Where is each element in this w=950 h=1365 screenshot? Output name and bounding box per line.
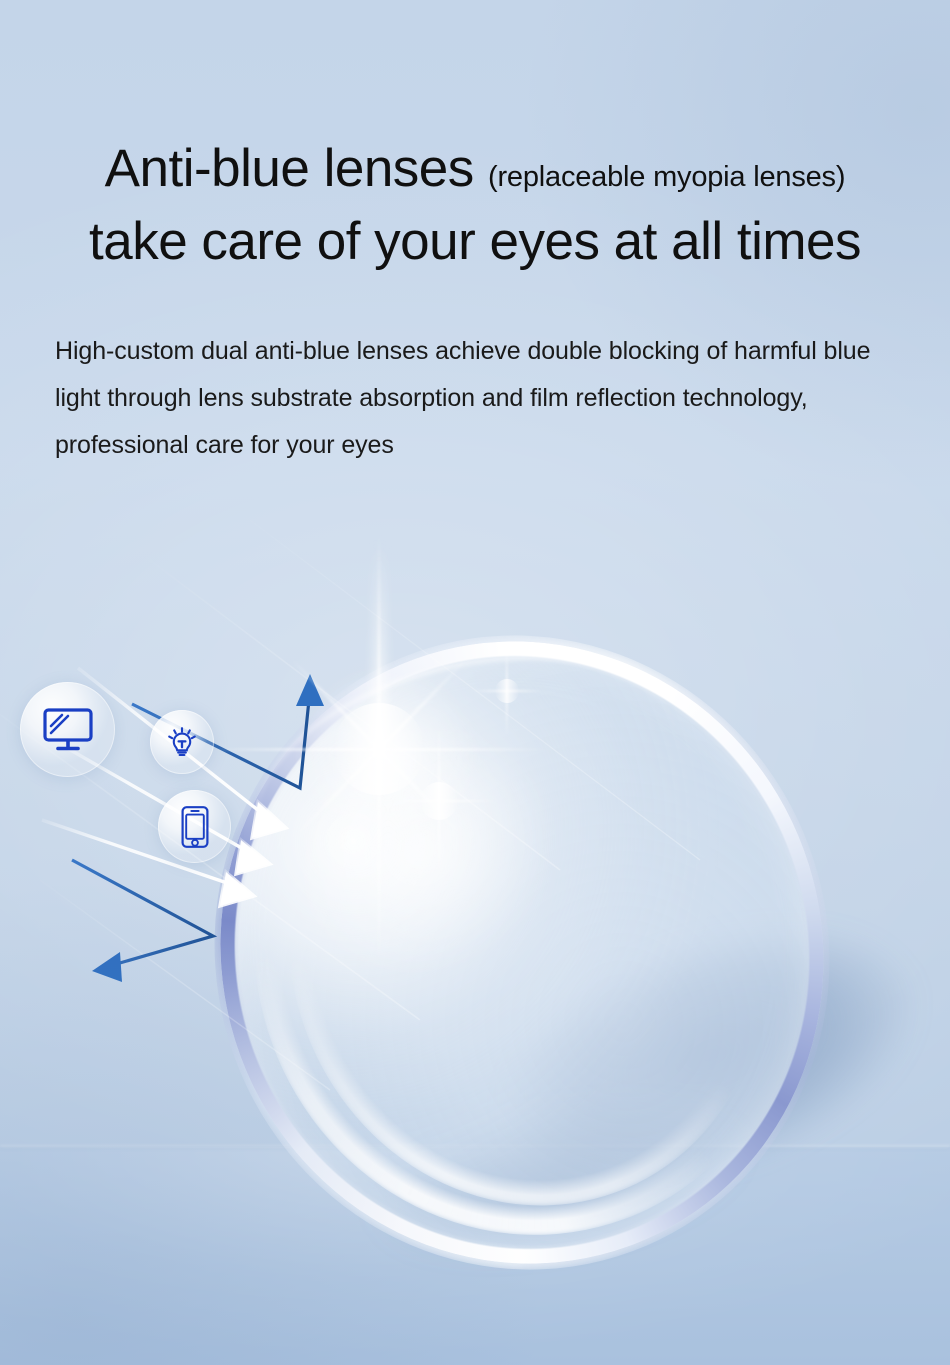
- background-light-streaks: [0, 520, 700, 1090]
- product-poster: Anti-blue lenses (replaceable myopia len…: [0, 0, 950, 1365]
- reflected-ray-lower: [72, 860, 213, 967]
- incoming-ray-3-arrowhead: [220, 872, 254, 906]
- reflected-ray-lower-arrowhead: [92, 952, 122, 982]
- subcopy-paragraph: High-custom dual anti-blue lenses achiev…: [55, 328, 900, 469]
- monitor-icon: [42, 707, 94, 753]
- badge-smartphone: [158, 790, 231, 863]
- headline-main-text: Anti-blue lenses: [105, 139, 474, 198]
- headline-line-2: take care of your eyes at all times: [0, 215, 950, 268]
- headline-parenthetical: (replaceable myopia lenses): [488, 161, 845, 193]
- badge-light-bulb: [150, 710, 214, 774]
- light-bulb-icon: [164, 724, 200, 760]
- headline-line-1: Anti-blue lenses (replaceable myopia len…: [0, 142, 950, 195]
- smartphone-icon: [180, 805, 210, 849]
- incoming-ray-1-arrowhead: [252, 802, 286, 838]
- badge-monitor: [20, 682, 115, 777]
- incoming-ray-2-arrowhead: [236, 840, 270, 874]
- headline-block: Anti-blue lenses (replaceable myopia len…: [0, 142, 950, 268]
- reflected-ray-upper-arrowhead: [296, 674, 324, 706]
